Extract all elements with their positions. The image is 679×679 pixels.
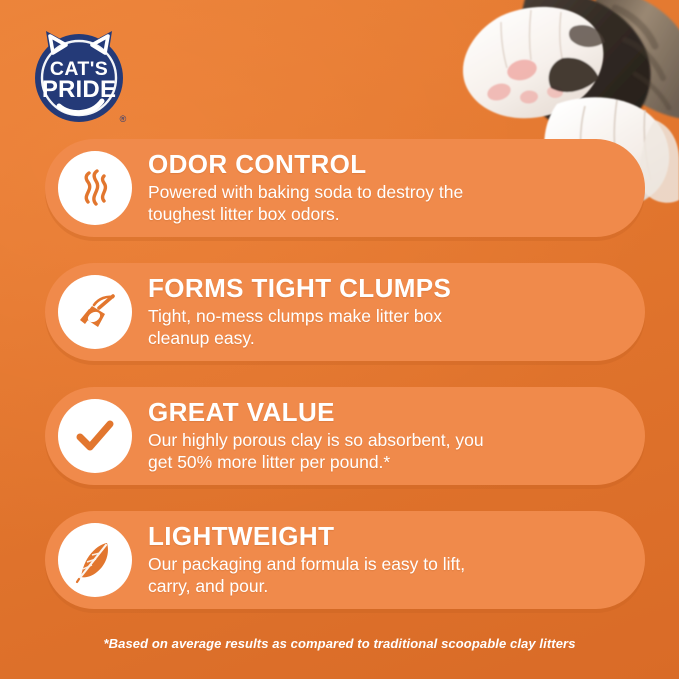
- feature-body-line: Tight, no-mess clumps make litter box: [148, 305, 451, 327]
- feature-body: Our packaging and formula is easy to lif…: [148, 553, 465, 597]
- feather-icon: [70, 535, 120, 585]
- feature-body-line: Our highly porous clay is so absorbent, …: [148, 429, 484, 451]
- card-text: FORMS TIGHT CLUMPS Tight, no-mess clumps…: [148, 275, 467, 349]
- disclaimer-footnote: *Based on average results as compared to…: [0, 636, 679, 651]
- card-text: ODOR CONTROL Powered with baking soda to…: [148, 151, 479, 225]
- icon-badge: [58, 523, 132, 597]
- icon-badge: [58, 399, 132, 473]
- feature-title: GREAT VALUE: [148, 399, 484, 426]
- icon-badge: [58, 151, 132, 225]
- feature-body: Powered with baking soda to destroy the …: [148, 181, 463, 225]
- feature-title: ODOR CONTROL: [148, 151, 463, 178]
- product-feature-infographic: CAT'S PRIDE ® ODOR CONTROL Powered: [0, 0, 679, 679]
- feature-body-line: cleanup easy.: [148, 327, 451, 349]
- logo-line-2: PRIDE: [42, 76, 116, 103]
- card-text: LIGHTWEIGHT Our packaging and formula is…: [148, 523, 481, 597]
- feature-card-odor-control[interactable]: ODOR CONTROL Powered with baking soda to…: [45, 139, 645, 237]
- feature-card-forms-tight-clumps[interactable]: FORMS TIGHT CLUMPS Tight, no-mess clumps…: [45, 263, 645, 361]
- feature-body-line: toughest litter box odors.: [148, 203, 463, 225]
- feature-body-line: get 50% more litter per pound.*: [148, 451, 484, 473]
- feature-card-great-value[interactable]: GREAT VALUE Our highly porous clay is so…: [45, 387, 645, 485]
- card-text: GREAT VALUE Our highly porous clay is so…: [148, 399, 500, 473]
- feature-body: Tight, no-mess clumps make litter box cl…: [148, 305, 451, 349]
- feature-card-list: ODOR CONTROL Powered with baking soda to…: [45, 139, 645, 609]
- checkmark-icon: [72, 413, 118, 459]
- cats-pride-logo: CAT'S PRIDE ®: [26, 23, 132, 129]
- feature-card-lightweight[interactable]: LIGHTWEIGHT Our packaging and formula is…: [45, 511, 645, 609]
- icon-badge: [58, 275, 132, 349]
- feature-body: Our highly porous clay is so absorbent, …: [148, 429, 484, 473]
- litter-scoop-icon: [70, 287, 120, 337]
- feature-title: FORMS TIGHT CLUMPS: [148, 275, 451, 302]
- feature-body-line: Our packaging and formula is easy to lif…: [148, 553, 465, 575]
- feature-title: LIGHTWEIGHT: [148, 523, 465, 550]
- feature-body-line: Powered with baking soda to destroy the: [148, 181, 463, 203]
- feature-body-line: carry, and pour.: [148, 575, 465, 597]
- odor-waves-icon: [72, 165, 118, 211]
- registered-trademark-mark: ®: [120, 114, 127, 124]
